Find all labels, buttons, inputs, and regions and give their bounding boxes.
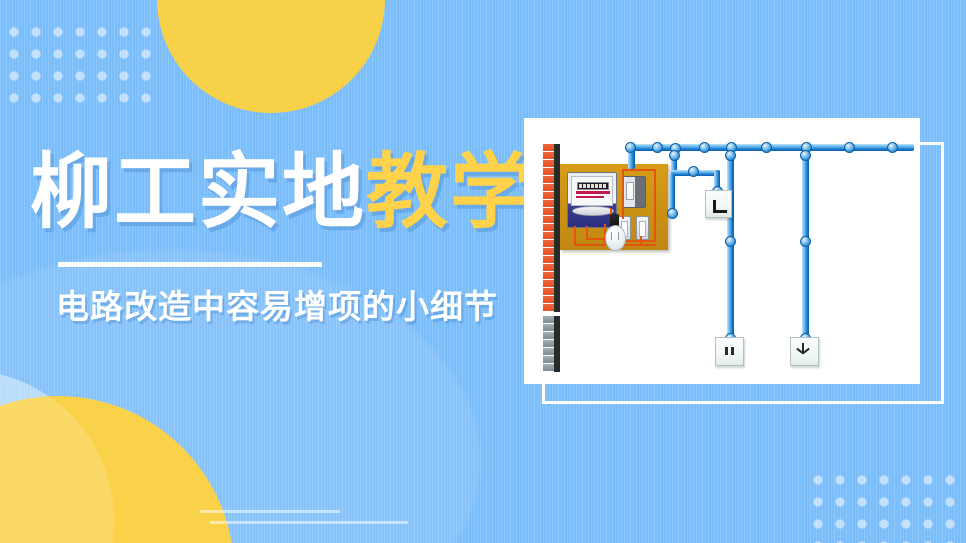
brick-cap [554, 356, 560, 364]
decorative-rule-1 [200, 510, 340, 513]
conduit-node [761, 142, 772, 153]
socket-slot [731, 347, 734, 355]
brick-cap [554, 144, 560, 152]
brick-cap [554, 264, 560, 272]
brick-cap [554, 280, 560, 288]
internal-wire [586, 238, 606, 240]
conduit-node [800, 150, 811, 161]
conduit-node [688, 166, 699, 177]
internal-wire [654, 169, 656, 241]
conduit-node [667, 208, 678, 219]
conduit-node [844, 142, 855, 153]
brick-wall [543, 144, 560, 374]
meter-label-red-1 [576, 191, 610, 194]
fuse-right [636, 216, 649, 240]
brick-cap [554, 316, 560, 324]
conduit-node [625, 142, 636, 153]
conduit-node [669, 150, 680, 161]
conduit-node [699, 142, 710, 153]
title-divider [58, 262, 322, 267]
conduit-node [725, 236, 736, 247]
meter-disc [572, 206, 614, 216]
two-pin-socket[interactable] [715, 337, 744, 366]
brick-cap [554, 272, 560, 280]
brick-cap [554, 256, 560, 264]
bulb-filament [611, 232, 619, 240]
brick-cap [554, 332, 560, 340]
decorative-rule-2 [210, 521, 408, 524]
socket-slot [725, 347, 728, 355]
meter-label-red-2 [576, 196, 604, 198]
page-subtitle: 电路改造中容易增项的小细节 [56, 280, 498, 328]
brick-cap [554, 304, 560, 312]
internal-wire [640, 236, 642, 244]
brick-cap [554, 296, 560, 304]
internal-wire [574, 244, 606, 246]
meter-face [571, 176, 613, 206]
brick-cap [554, 340, 560, 348]
brick-cap [554, 324, 560, 332]
internal-wire [622, 169, 624, 219]
brick-cap [554, 364, 560, 372]
circuit-breaker [622, 176, 646, 208]
switch-toggle-icon [713, 200, 727, 213]
brick-cap [554, 152, 560, 160]
internal-wire [622, 169, 656, 171]
poster-canvas: 柳工实地教学 电路改造中容易增项的小细节 [0, 0, 966, 543]
conduit-node [800, 236, 811, 247]
brick-cap [554, 288, 560, 296]
wiring-diagram-photo [524, 118, 920, 384]
conduit-node [725, 150, 736, 161]
meter-digit-readout [577, 182, 609, 190]
wall-switch[interactable] [705, 190, 732, 218]
three-pin-socket[interactable] [790, 337, 819, 366]
wiring-diagram [524, 118, 920, 384]
conduit-node [652, 142, 663, 153]
page-title-highlight: 教学 [366, 147, 534, 238]
page-title: 柳工实地教学 [30, 152, 530, 234]
conduit-node [887, 142, 898, 153]
brick-cap [554, 348, 560, 356]
internal-wire [574, 226, 576, 246]
headline-block: 柳工实地教学 电路改造中容易增项的小细节 [30, 152, 530, 234]
page-title-plain: 柳工实地 [30, 147, 366, 238]
internal-wire [622, 244, 656, 246]
